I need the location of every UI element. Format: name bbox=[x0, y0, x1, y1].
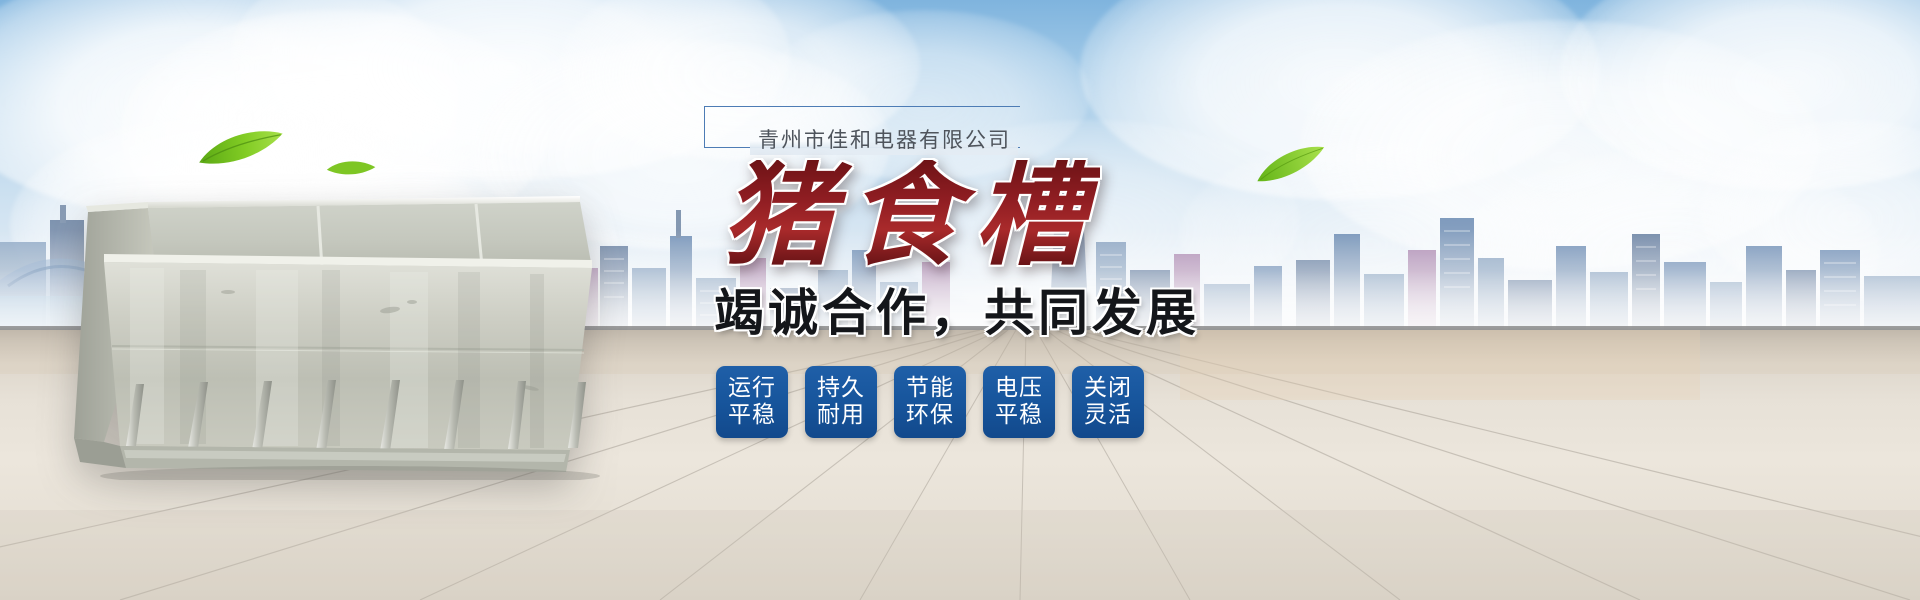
product-image-pig-feeding-trough bbox=[60, 150, 620, 480]
feature-badge-line2: 耐用 bbox=[817, 402, 865, 429]
feature-badge[interactable]: 关闭 灵活 bbox=[1072, 366, 1144, 438]
feature-badge[interactable]: 节能 环保 bbox=[894, 366, 966, 438]
feature-badge-line1: 持久 bbox=[817, 375, 865, 402]
promo-banner: 青州市佳和电器有限公司 猪食槽 竭诚合作，共同发展 运行 平稳 持久 耐用 节能… bbox=[0, 0, 1920, 600]
feature-badge-line2: 灵活 bbox=[1084, 402, 1132, 429]
main-title: 猪食槽 bbox=[722, 160, 1100, 272]
feature-badge-line1: 节能 bbox=[906, 375, 954, 402]
feature-badge[interactable]: 电压 平稳 bbox=[983, 366, 1055, 438]
feature-badge-list: 运行 平稳 持久 耐用 节能 环保 电压 平稳 关闭 灵活 bbox=[716, 366, 1144, 438]
feature-badge[interactable]: 运行 平稳 bbox=[716, 366, 788, 438]
feature-badge-line2: 环保 bbox=[906, 402, 954, 429]
feature-badge-line2: 平稳 bbox=[728, 402, 776, 429]
feature-badge-line1: 运行 bbox=[728, 375, 776, 402]
banner-copy: 青州市佳和电器有限公司 猪食槽 竭诚合作，共同发展 运行 平稳 持久 耐用 节能… bbox=[700, 98, 1400, 518]
feature-badge[interactable]: 持久 耐用 bbox=[805, 366, 877, 438]
subtitle-slogan: 竭诚合作，共同发展 bbox=[714, 288, 1200, 338]
feature-badge-line1: 电压 bbox=[995, 375, 1043, 402]
feature-badge-line1: 关闭 bbox=[1084, 375, 1132, 402]
feature-badge-line2: 平稳 bbox=[995, 402, 1043, 429]
